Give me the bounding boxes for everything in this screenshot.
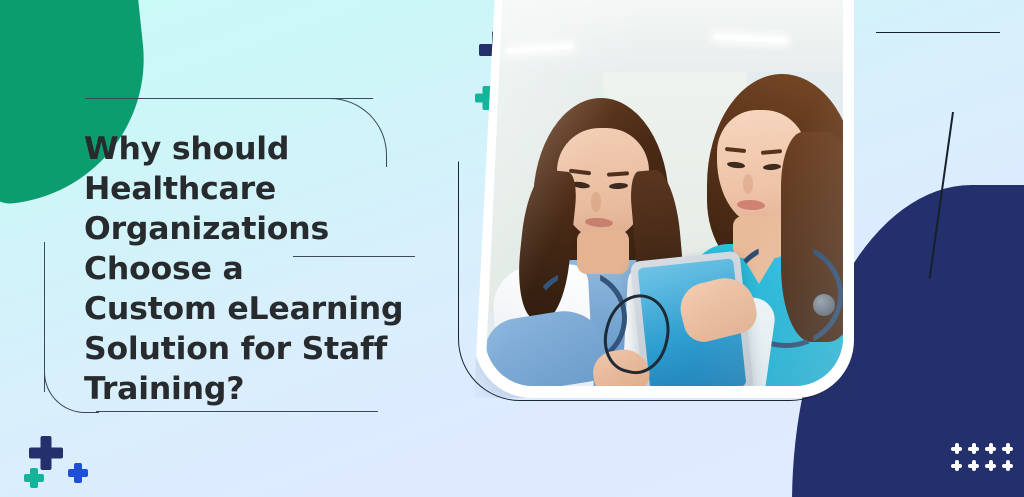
doctor-neck (577, 230, 629, 274)
top-right-rule-line (876, 32, 1000, 33)
plus-icon (68, 463, 88, 483)
plus-icon (1002, 460, 1013, 471)
plus-icon (985, 460, 996, 471)
plus-icon (29, 436, 63, 470)
plus-icon (24, 468, 44, 488)
plus-icon (985, 443, 996, 454)
bottom-rule-line (96, 411, 378, 412)
doctor-nose (591, 192, 601, 212)
left-rule-line (44, 242, 45, 392)
plus-icon (951, 460, 962, 471)
photo-image (485, 0, 843, 386)
plus-icon (968, 443, 979, 454)
nurse-nose (743, 174, 753, 194)
promo-banner: Why should Healthcare Organizations Choo… (0, 0, 1024, 497)
plus-icon (968, 460, 979, 471)
plus-icon (1002, 443, 1013, 454)
nurse-stethoscope-chestpiece (813, 294, 835, 316)
page-title: Why should Healthcare Organizations Choo… (84, 129, 454, 409)
hero-photo (474, 0, 854, 398)
photo-ceiling-lights (485, 0, 843, 72)
plus-icon (951, 443, 962, 454)
dot-grid-pattern (951, 443, 1019, 477)
